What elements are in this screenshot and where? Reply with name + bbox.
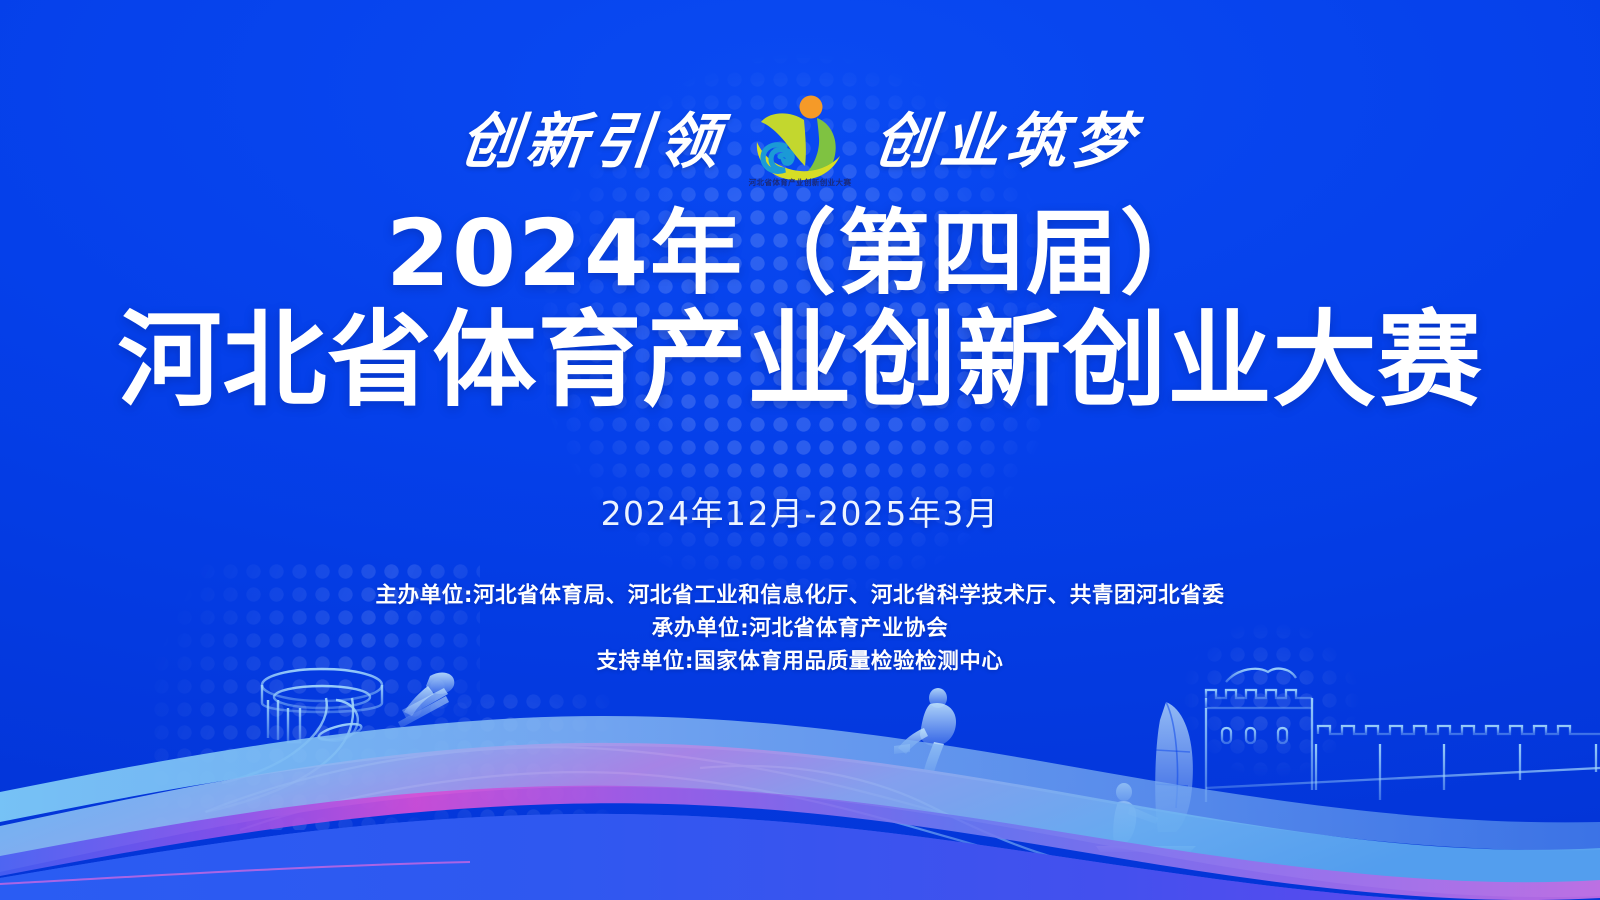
title-line-2: 河北省体育产业创新创业大赛 [0,306,1600,414]
slogan-left: 创新引领 [456,93,729,180]
logo-sun-circle [800,96,823,119]
logo-leaf-right [803,118,836,178]
logo-caption: 河北省体育产业创新创业大赛 [749,177,852,188]
competition-logo: 河北省体育产业创新创业大赛 [741,86,859,186]
event-date: 2024年12月-2025年3月 [0,487,1600,535]
page-title: 2024年（第四届） 河北省体育产业创新创业大赛 [0,206,1600,414]
logo-leaf-icon [741,90,859,186]
event-poster: 创新引领 河北省体育产业创新创业大赛 创业筑梦 2024年（第四届） 河北省体育… [0,0,1600,900]
slogan-right: 创业筑梦 [870,93,1143,180]
bottom-wave-art [0,640,1600,900]
organizer-host: 主办单位:河北省体育局、河北省工业和信息化厅、河北省科学技术厅、共青团河北省委 [0,580,1600,613]
slogan-row: 创新引领 河北省体育产业创新创业大赛 创业筑梦 [0,88,1600,184]
title-line-1: 2024年（第四届） [0,206,1600,302]
